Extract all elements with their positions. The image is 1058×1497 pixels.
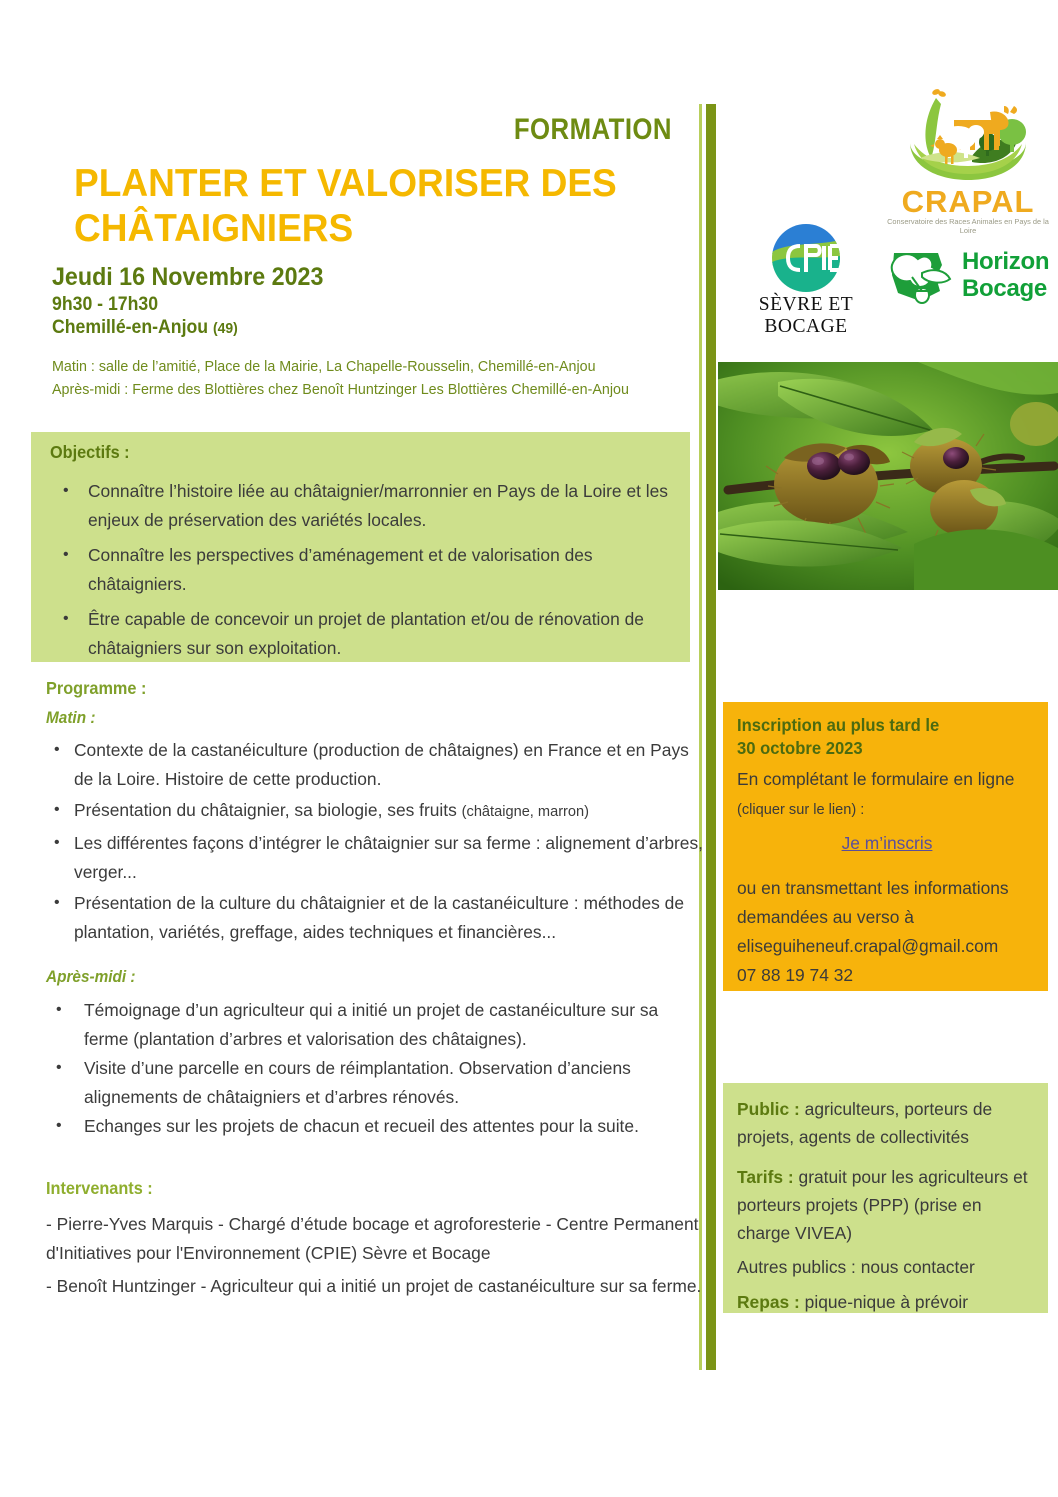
inscription-box: Inscription au plus tard le 30 octobre 2… [723,702,1048,991]
inscription-intro-note: (cliquer sur le lien) : [737,802,864,818]
inscription-title-line1: Inscription au plus tard le [737,714,1022,737]
programme-matin-list: Contexte de la castanéiculture (producti… [46,736,706,949]
venue-morning: Matin : salle de l’amitié, Place de la M… [52,356,702,379]
list-item: Contexte de la castanéiculture (producti… [46,736,706,794]
list-item: Connaître l’histoire liée au châtaignier… [50,477,675,535]
details-box: Public : agriculteurs, porteurs de proje… [723,1083,1048,1313]
event-date: Jeudi 16 Novembre 2023 [52,263,323,292]
list-item: Présentation du châtaignier, sa biologie… [46,796,706,827]
oak-leaf-acorn-icon [886,294,960,311]
programme-matin-label: Matin : [46,709,95,728]
list-item: Echanges sur les projets de chacun et re… [46,1112,706,1141]
inscription-alt: ou en transmettant les informations dema… [737,874,1042,990]
horizon-bocage-line2: Bocage [962,275,1049,302]
programme-title: Programme : [46,678,146,699]
list-item: Être capable de concevoir un projet de p… [50,605,675,663]
autres-publics-row: Autres publics : nous contacter [737,1253,1039,1281]
kicker-formation: FORMATION [94,113,672,147]
list-item: Connaître les perspectives d’aménagement… [50,541,675,599]
tarifs-label: Tarifs : [737,1167,794,1187]
crapal-logo: CRAPAL Conservatoire des Races Animales … [884,84,1052,234]
venue-afternoon: Après-midi : Ferme des Blottières chez B… [52,379,702,402]
list-item-text: Présentation de la culture du châtaignie… [74,893,684,942]
objectifs-box: Objectifs : Connaître l’histoire liée au… [31,432,690,662]
list-item-text: Contexte de la castanéiculture (producti… [74,740,689,789]
chestnut-burr-photo [718,362,1058,590]
horizon-bocage-line1: Horizon [962,248,1049,275]
list-item: Présentation de la culture du châtaignie… [46,889,706,947]
objectifs-title: Objectifs : [50,442,130,463]
repas-row: Repas : pique-nique à prévoir [737,1288,1039,1316]
list-item-text: Les différentes façons d’intégrer le châ… [74,833,703,882]
tarifs-row: Tarifs : gratuit pour les agriculteurs e… [737,1163,1039,1247]
inscription-link[interactable]: Je m’inscris [737,829,1037,858]
cpie-name: SÈVRE ET BOCAGE [716,294,896,338]
crapal-tagline: Conservatoire des Races Animales en Pays… [884,217,1052,235]
event-time: 9h30 - 17h30 [52,294,158,316]
event-city: Chemillé-en-Anjou (49) [52,317,238,339]
list-item: Visite d’une parcelle en cours de réimpl… [46,1054,706,1112]
repas-label: Repas : [737,1292,800,1312]
programme-apresmidi-label: Après-midi : [46,968,136,987]
list-item: Les différentes façons d’intégrer le châ… [46,829,706,887]
list-item-text: Présentation du châtaignier, sa biologie… [74,800,462,820]
public-row: Public : agriculteurs, porteurs de proje… [737,1095,1039,1151]
inscription-email[interactable]: eliseguiheneuf.crapal@gmail.com [737,932,1042,961]
public-label: Public : [737,1099,800,1119]
poster-page: FORMATION PLANTER ET VALORISER DES CHÂTA… [0,0,1058,1497]
crapal-wordmark: CRAPAL [884,184,1052,220]
programme-apresmidi-list: Témoignage d’un agriculteur qui a initié… [46,996,706,1141]
venue-details: Matin : salle de l’amitié, Place de la M… [52,356,702,402]
divider-thick-bar [706,104,716,1370]
page-title: PLANTER ET VALORISER DES CHÂTAIGNIERS [74,161,654,251]
repas-value: pique-nique à prévoir [805,1292,968,1312]
intervenants-title: Intervenants : [46,1178,153,1199]
cpie-logo: SÈVRE ET BOCAGE [716,222,896,327]
event-city-name: Chemillé-en-Anjou [52,317,208,338]
objectifs-list: Connaître l’histoire liée au châtaignier… [50,477,675,669]
list-item: Témoignage d’un agriculteur qui a initié… [46,996,706,1054]
event-department: (49) [213,320,238,337]
intervenant-entry: - Pierre-Yves Marquis - Chargé d’étude b… [46,1210,711,1268]
inscription-intro-text: En complétant le formulaire en ligne [737,769,1014,789]
horizon-bocage-wordmark: Horizon Bocage [962,248,1049,302]
inscription-intro: En complétant le formulaire en ligne (cl… [737,765,1037,858]
horizon-bocage-logo: Horizon Bocage [886,247,1052,309]
inscription-phone[interactable]: 07 88 19 74 32 [737,961,1042,990]
inscription-alt-text: ou en transmettant les informations dema… [737,878,1009,927]
intervenant-entry: - Benoît Huntzinger - Agriculteur qui a … [46,1272,711,1301]
inscription-title-line2: 30 octobre 2023 [737,737,1022,760]
list-item-note: (châtaigne, marron) [462,804,589,820]
inscription-title: Inscription au plus tard le 30 octobre 2… [737,714,1022,760]
